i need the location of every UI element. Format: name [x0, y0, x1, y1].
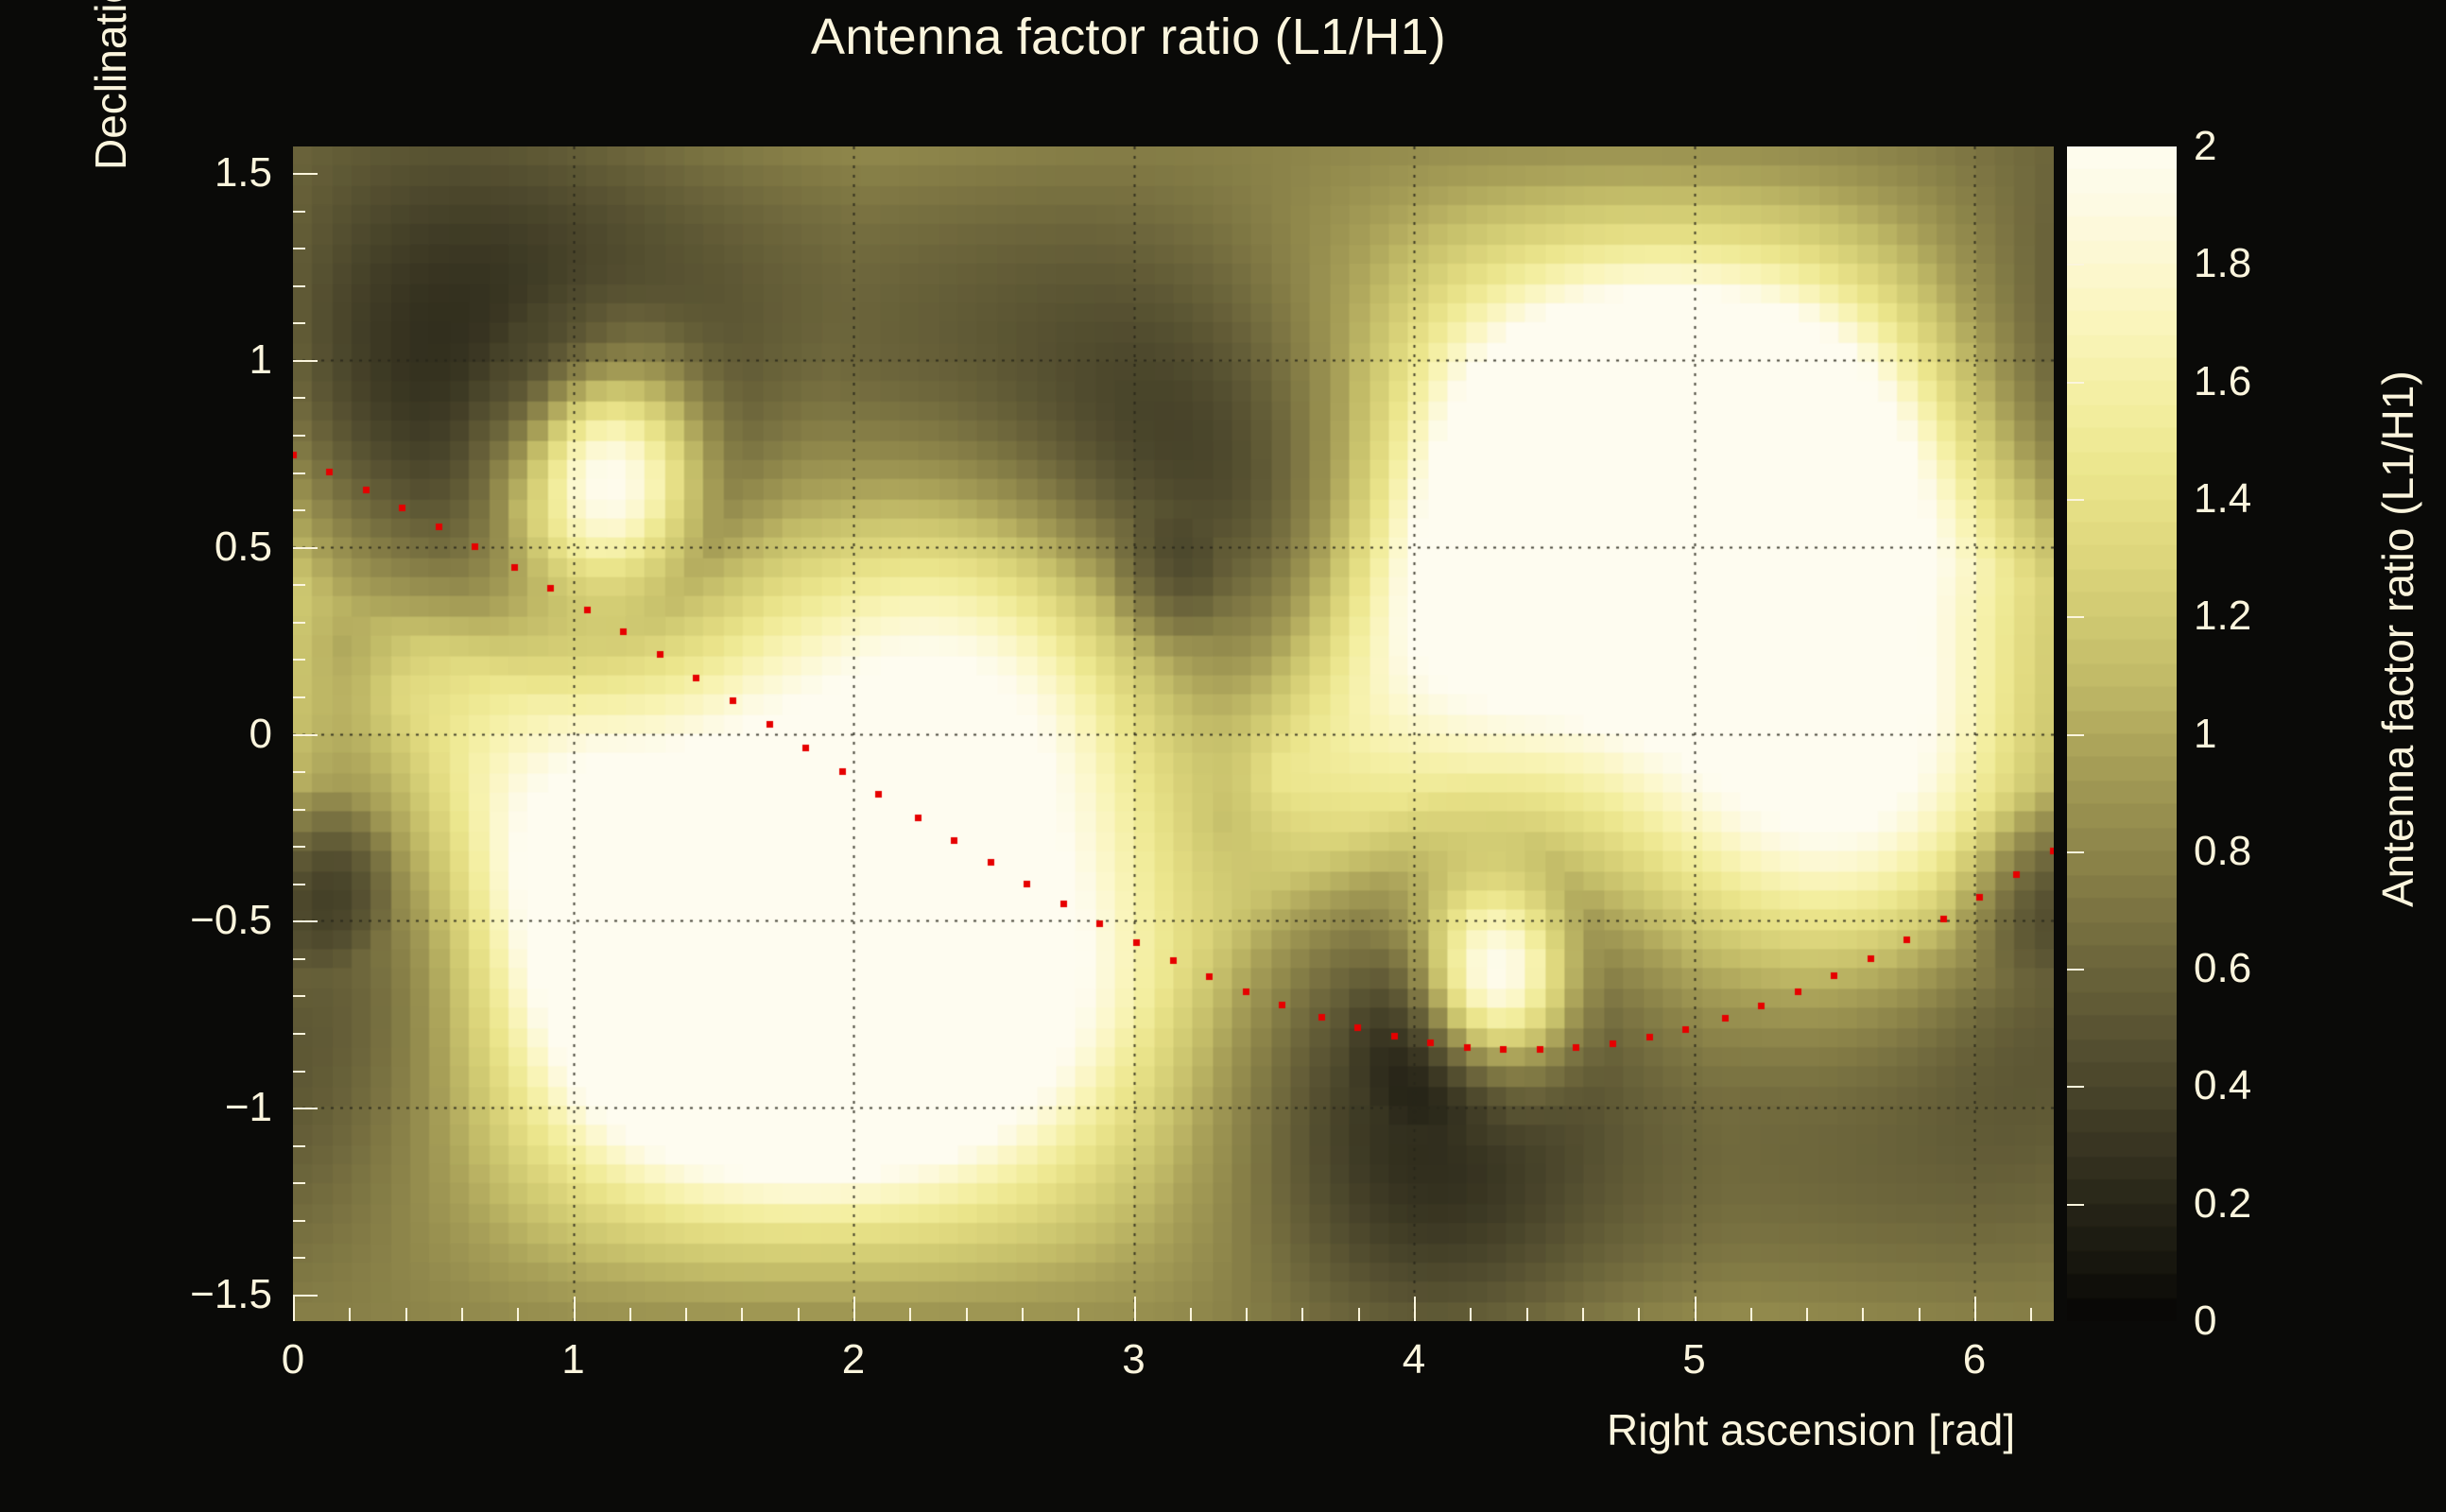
- y-axis-minor-tick: [293, 509, 305, 511]
- galactic-plane-overlay: [293, 146, 2054, 1321]
- x-axis-minor-tick: [1638, 1308, 1640, 1321]
- y-axis-minor-tick: [293, 958, 305, 960]
- x-axis-tick-label: 4: [1403, 1336, 1425, 1383]
- x-axis-tick-label: 6: [1963, 1336, 1986, 1383]
- colorbar-tick-label: 1: [2194, 711, 2216, 758]
- x-axis-tick-label: 5: [1682, 1336, 1705, 1383]
- x-axis-minor-tick: [1919, 1308, 1921, 1321]
- x-axis-minor-tick: [517, 1308, 519, 1321]
- colorbar-tick: [2067, 969, 2084, 971]
- x-axis-minor-tick: [349, 1308, 351, 1321]
- y-axis-minor-tick: [293, 1145, 305, 1147]
- colorbar-tick-label: 2: [2194, 123, 2216, 170]
- colorbar-tick: [2067, 616, 2084, 618]
- colorbar-tick: [2067, 1204, 2084, 1206]
- x-axis-major-tick: [1695, 1297, 1697, 1321]
- x-axis-minor-tick: [1582, 1308, 1584, 1321]
- y-axis-minor-tick: [293, 472, 305, 474]
- y-axis-minor-tick: [293, 696, 305, 698]
- colorbar-tick-label: 1.2: [2194, 593, 2251, 640]
- y-axis-major-tick: [293, 547, 318, 549]
- x-axis-minor-tick: [1358, 1308, 1360, 1321]
- y-axis-minor-tick: [293, 211, 305, 213]
- x-axis-major-tick: [574, 1297, 576, 1321]
- y-axis-minor-tick: [293, 285, 305, 287]
- y-axis-minor-tick: [293, 846, 305, 848]
- x-axis-tick-label: 1: [561, 1336, 584, 1383]
- x-axis-minor-tick: [966, 1308, 968, 1321]
- y-axis-minor-tick: [293, 584, 305, 586]
- colorbar-tick-label: 0.2: [2194, 1180, 2251, 1228]
- x-axis-minor-tick: [1862, 1308, 1864, 1321]
- y-axis-tick-label: −0.5: [190, 897, 272, 944]
- colorbar-tick: [2067, 264, 2084, 266]
- x-axis-minor-tick: [629, 1308, 631, 1321]
- colorbar-tick: [2067, 382, 2084, 384]
- y-axis-minor-tick: [293, 435, 305, 437]
- y-axis-minor-tick: [293, 995, 305, 997]
- x-axis-minor-tick: [1022, 1308, 1024, 1321]
- x-axis-tick-label: 2: [842, 1336, 865, 1383]
- y-axis-title: Declination [rad]: [85, 0, 136, 170]
- x-axis-minor-tick: [1077, 1308, 1079, 1321]
- y-axis-minor-tick: [293, 1033, 305, 1035]
- y-axis-minor-tick: [293, 622, 305, 624]
- x-axis-minor-tick: [1301, 1308, 1303, 1321]
- x-axis-title: Right ascension [rad]: [1607, 1404, 2015, 1455]
- colorbar-tick: [2067, 499, 2084, 501]
- y-axis-minor-tick: [293, 1182, 305, 1184]
- x-axis-major-tick: [1974, 1297, 1976, 1321]
- y-axis-major-tick: [293, 920, 318, 922]
- x-axis-minor-tick: [1190, 1308, 1192, 1321]
- colorbar-tick: [2067, 1086, 2084, 1088]
- y-axis-minor-tick: [293, 659, 305, 661]
- y-axis-tick-label: 1: [250, 336, 272, 384]
- x-axis-minor-tick: [685, 1308, 687, 1321]
- page-title: Antenna factor ratio (L1/H1): [0, 8, 2257, 66]
- y-axis-major-tick: [293, 1108, 318, 1109]
- x-axis-major-tick: [853, 1297, 855, 1321]
- y-axis-minor-tick: [293, 1220, 305, 1222]
- x-axis-minor-tick: [1526, 1308, 1528, 1321]
- x-axis-tick-label: 0: [282, 1336, 304, 1383]
- figure-canvas: Antenna factor ratio (L1/H1) Declination…: [0, 0, 2446, 1512]
- y-axis-minor-tick: [293, 809, 305, 811]
- y-axis-minor-tick: [293, 1257, 305, 1259]
- colorbar-tick: [2067, 851, 2084, 853]
- colorbar-title: Antenna factor ratio (L1/H1): [2372, 370, 2423, 907]
- y-axis-minor-tick: [293, 397, 305, 399]
- x-axis-tick-label: 3: [1122, 1336, 1145, 1383]
- colorbar-tick-label: 0.8: [2194, 828, 2251, 875]
- x-axis-major-tick: [1134, 1297, 1136, 1321]
- y-axis-tick-label: −1.5: [190, 1271, 272, 1318]
- y-axis-tick-label: 0: [250, 711, 272, 758]
- x-axis-minor-tick: [461, 1308, 463, 1321]
- x-axis-minor-tick: [1246, 1308, 1248, 1321]
- y-axis-major-tick: [293, 1295, 318, 1297]
- y-axis-minor-tick: [293, 1071, 305, 1073]
- x-axis-major-tick: [293, 1297, 295, 1321]
- y-axis-minor-tick: [293, 322, 305, 324]
- colorbar-tick-label: 1.6: [2194, 358, 2251, 405]
- colorbar[interactable]: [2067, 146, 2177, 1321]
- x-axis-minor-tick: [1470, 1308, 1472, 1321]
- y-axis-tick-label: −1: [225, 1084, 272, 1131]
- x-axis-minor-tick: [2030, 1308, 2032, 1321]
- y-axis-major-tick: [293, 734, 318, 736]
- colorbar-tick-label: 1.4: [2194, 475, 2251, 523]
- x-axis-minor-tick: [1750, 1308, 1752, 1321]
- x-axis-minor-tick: [741, 1308, 743, 1321]
- y-axis-tick-label: 1.5: [215, 149, 272, 197]
- x-axis-major-tick: [1414, 1297, 1416, 1321]
- colorbar-tick: [2067, 734, 2084, 736]
- colorbar-tick-label: 0.4: [2194, 1062, 2251, 1109]
- heatmap-plot-area[interactable]: [293, 146, 2054, 1321]
- x-axis-minor-tick: [405, 1308, 407, 1321]
- colorbar-tick-label: 1.8: [2194, 240, 2251, 287]
- x-axis-minor-tick: [798, 1308, 800, 1321]
- x-axis-minor-tick: [1806, 1308, 1808, 1321]
- y-axis-major-tick: [293, 360, 318, 362]
- y-axis-major-tick: [293, 173, 318, 175]
- colorbar-tick-label: 0: [2194, 1297, 2216, 1345]
- colorbar-tick-label: 0.6: [2194, 945, 2251, 992]
- y-axis-minor-tick: [293, 248, 305, 249]
- y-axis-tick-label: 0.5: [215, 524, 272, 571]
- x-axis-minor-tick: [909, 1308, 911, 1321]
- y-axis-minor-tick: [293, 771, 305, 773]
- y-axis-minor-tick: [293, 884, 305, 885]
